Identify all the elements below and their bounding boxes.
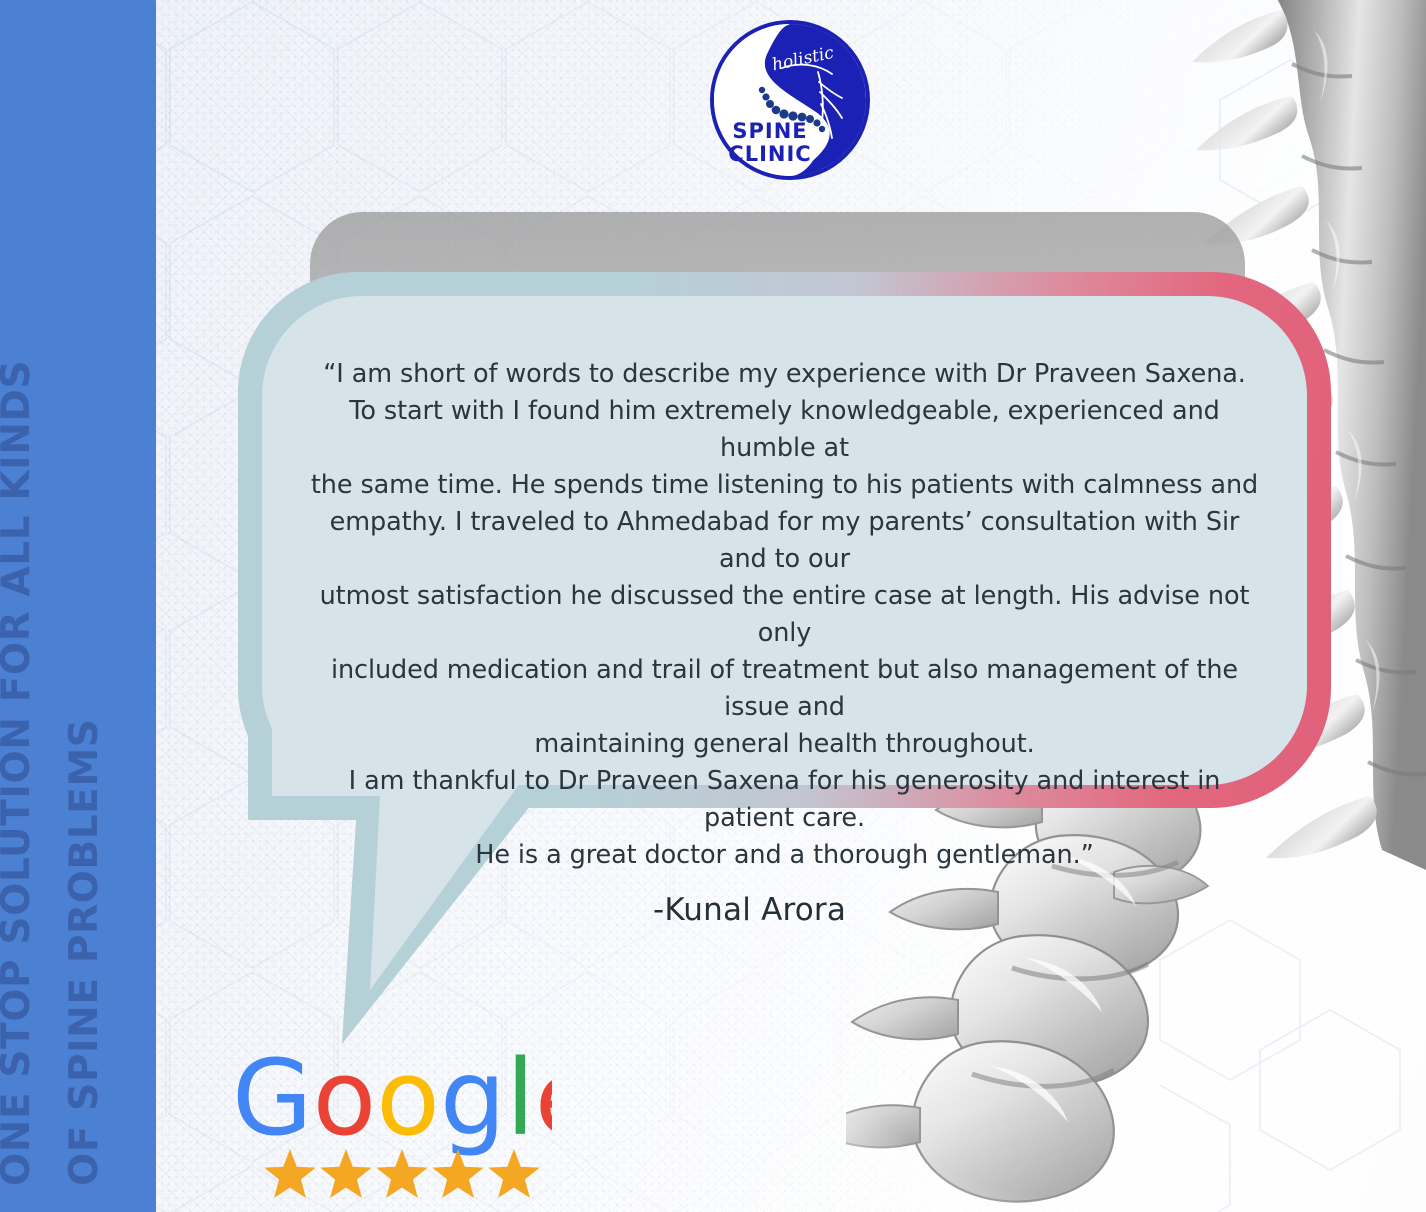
star-icon xyxy=(261,1148,319,1204)
google-letter-o2: o xyxy=(376,1050,440,1158)
google-letter-l: l xyxy=(506,1050,535,1158)
star-rating xyxy=(232,1148,572,1204)
logo-line-spine: SPINE xyxy=(732,119,807,143)
star-icon xyxy=(485,1148,543,1204)
star-icon xyxy=(429,1148,487,1204)
sidebar-tagline-bar: ONE STOP SOLUTION FOR ALL KINDS OF SPINE… xyxy=(0,0,156,1212)
star-icon xyxy=(317,1148,375,1204)
google-review-block: Google xyxy=(232,1050,572,1204)
tagline-line-1: ONE STOP SOLUTION FOR ALL KINDS xyxy=(0,360,36,1186)
google-letter-e: e xyxy=(535,1050,552,1158)
star-icon xyxy=(373,1148,431,1204)
testimonial-author: -Kunal Arora xyxy=(284,892,1285,928)
tagline-line-2: OF SPINE PROBLEMS xyxy=(65,719,104,1187)
spine-clinic-logo: holistic SPINE CLINIC xyxy=(706,16,874,184)
testimonial-bubble: “I am short of words to describe my expe… xyxy=(262,296,1307,785)
google-wordmark: Google xyxy=(232,1050,552,1158)
google-letter-g2: g xyxy=(440,1050,506,1158)
testimonial-poster: “I am short of words to describe my expe… xyxy=(0,0,1426,1212)
testimonial-quote-text: “I am short of words to describe my expe… xyxy=(284,356,1285,874)
logo-line-clinic: CLINIC xyxy=(728,142,811,166)
svg-text:Google: Google xyxy=(232,1050,552,1158)
google-letter-o1: o xyxy=(313,1050,377,1158)
google-letter-g1: G xyxy=(232,1050,313,1158)
